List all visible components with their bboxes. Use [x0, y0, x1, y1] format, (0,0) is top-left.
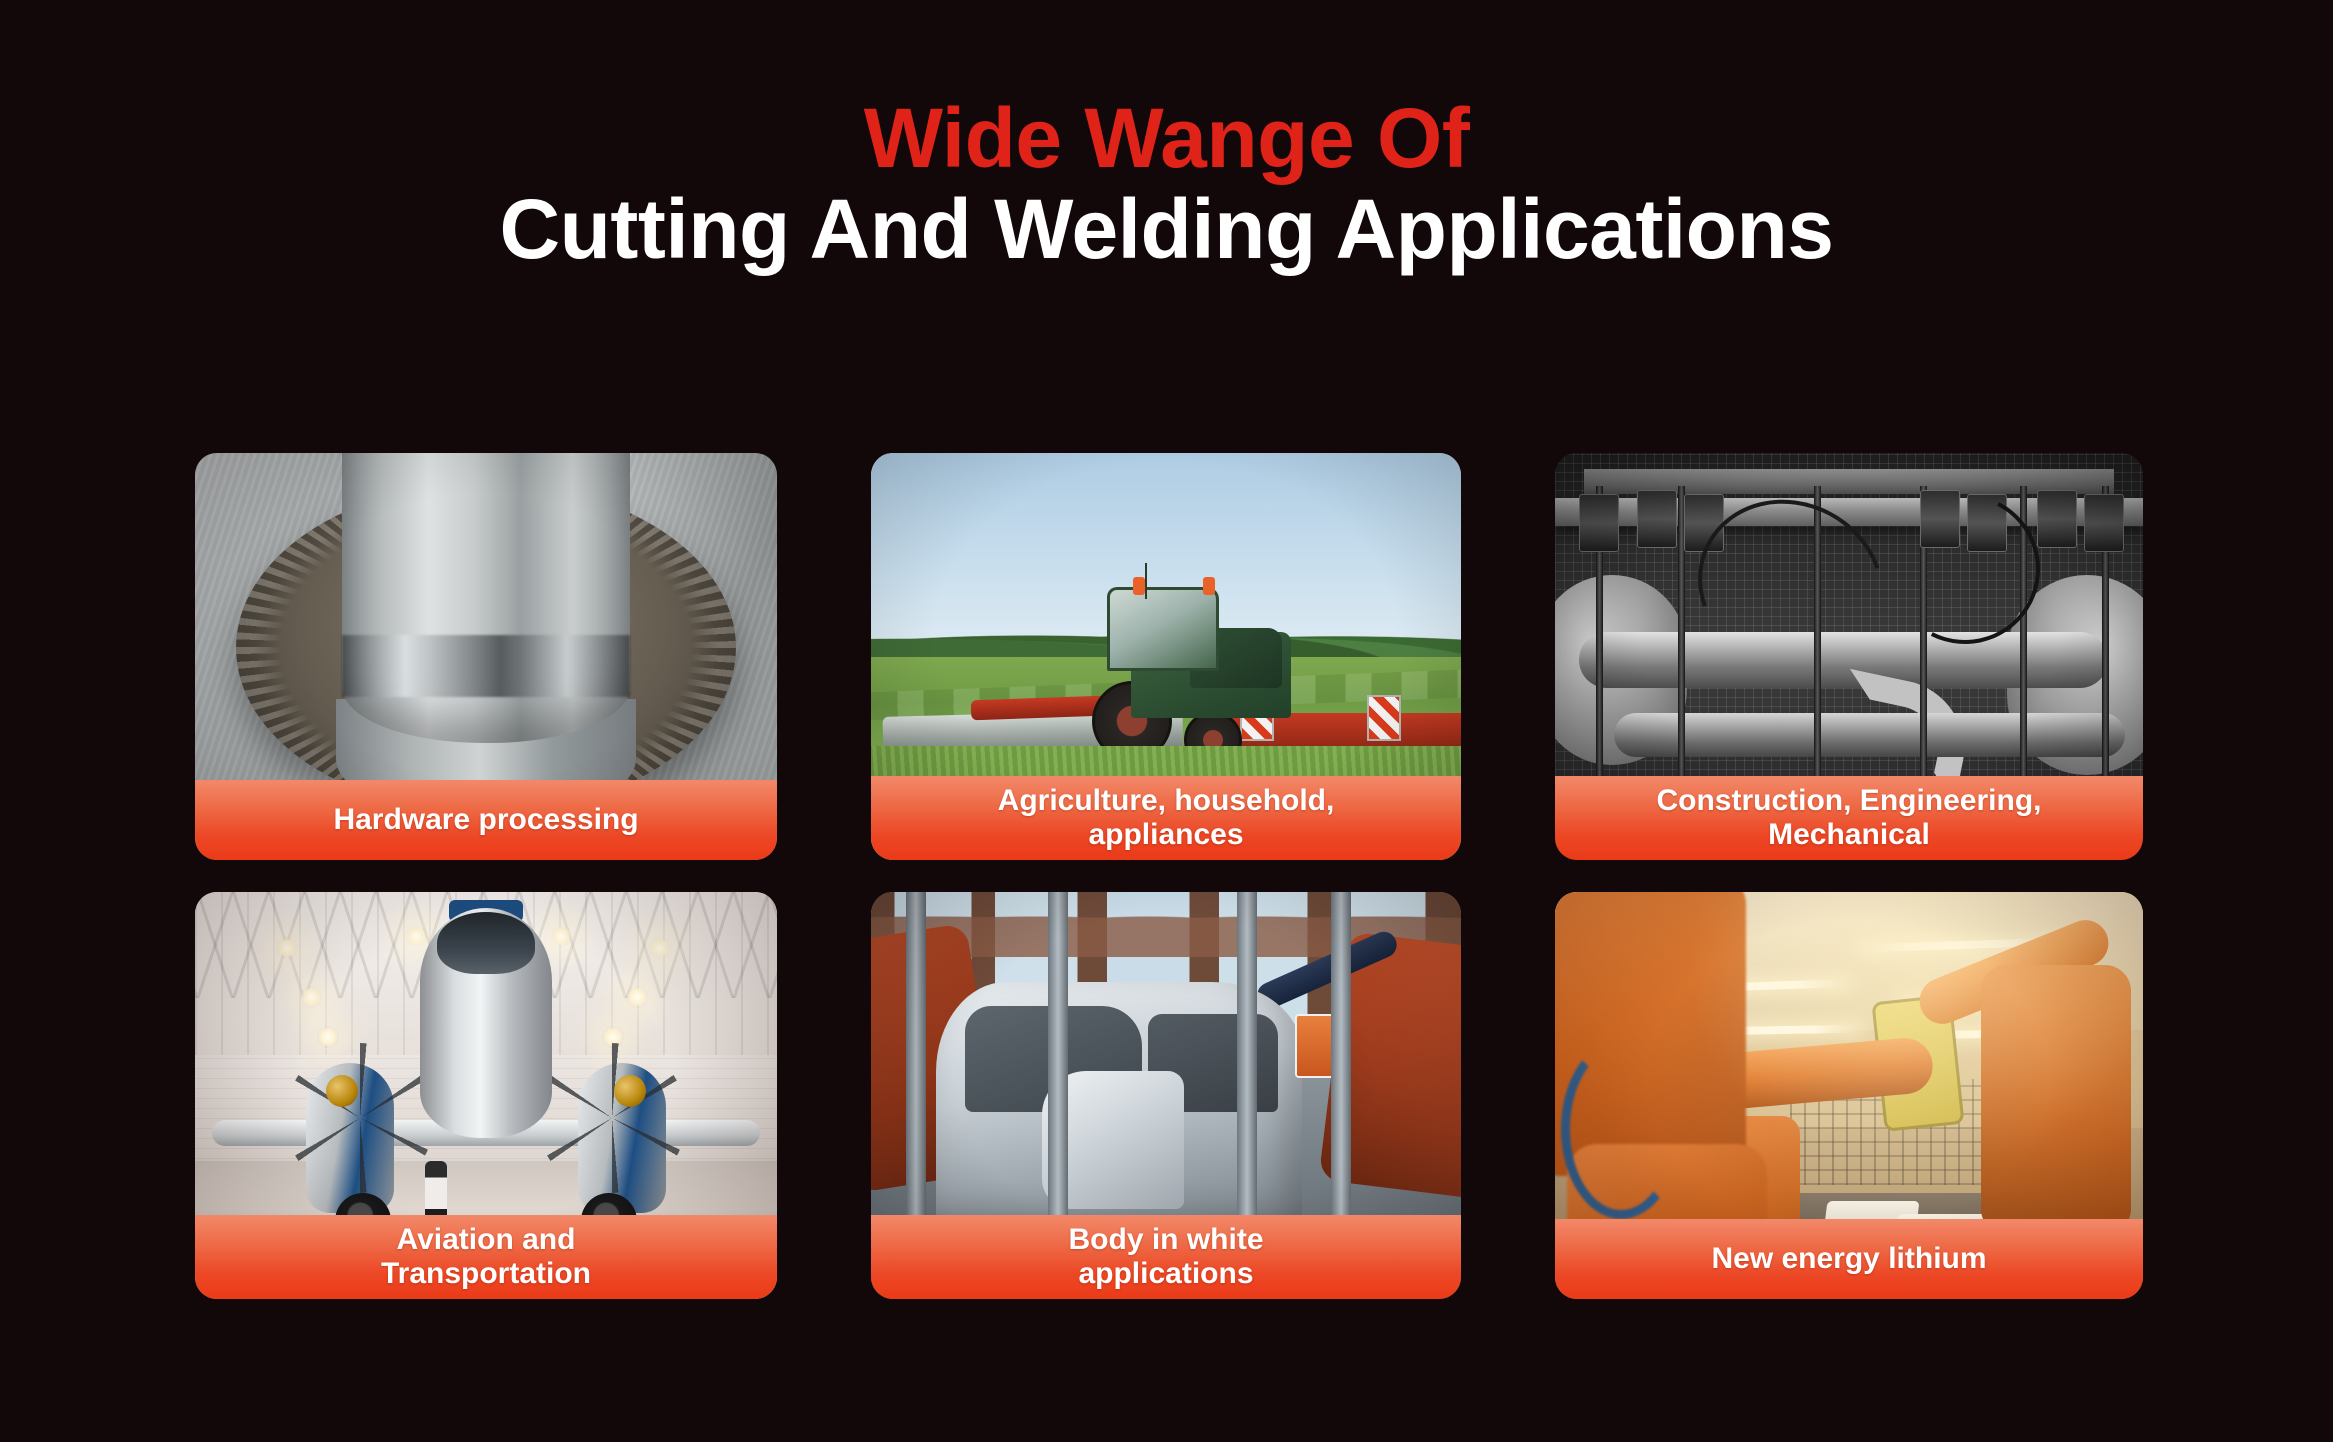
application-card-aviation[interactable]: Aviation and Transportation — [195, 892, 777, 1299]
application-card-construction[interactable]: Construction, Engineering, Mechanical — [1555, 453, 2143, 860]
card-label-body-in-white: Body in white applications — [871, 1215, 1461, 1299]
page-title-line-2: Cutting And Welding Applications — [0, 182, 2333, 276]
card-label-new-energy-lithium: New energy lithium — [1555, 1219, 2143, 1299]
application-card-grid: Hardware processing Agriculture, househo… — [195, 453, 2143, 1299]
application-card-hardware-processing[interactable]: Hardware processing — [195, 453, 777, 860]
card-label-aviation: Aviation and Transportation — [195, 1215, 777, 1299]
page-header: Wide Wange Of Cutting And Welding Applic… — [0, 0, 2333, 276]
application-card-agriculture[interactable]: Agriculture, household, appliances — [871, 453, 1461, 860]
page-title-line-1: Wide Wange Of — [0, 96, 2333, 182]
application-card-body-in-white[interactable]: Body in white applications — [871, 892, 1461, 1299]
card-label-agriculture: Agriculture, household, appliances — [871, 776, 1461, 860]
card-label-construction: Construction, Engineering, Mechanical — [1555, 776, 2143, 860]
application-card-new-energy-lithium[interactable]: New energy lithium — [1555, 892, 2143, 1299]
card-label-hardware-processing: Hardware processing — [195, 780, 777, 860]
